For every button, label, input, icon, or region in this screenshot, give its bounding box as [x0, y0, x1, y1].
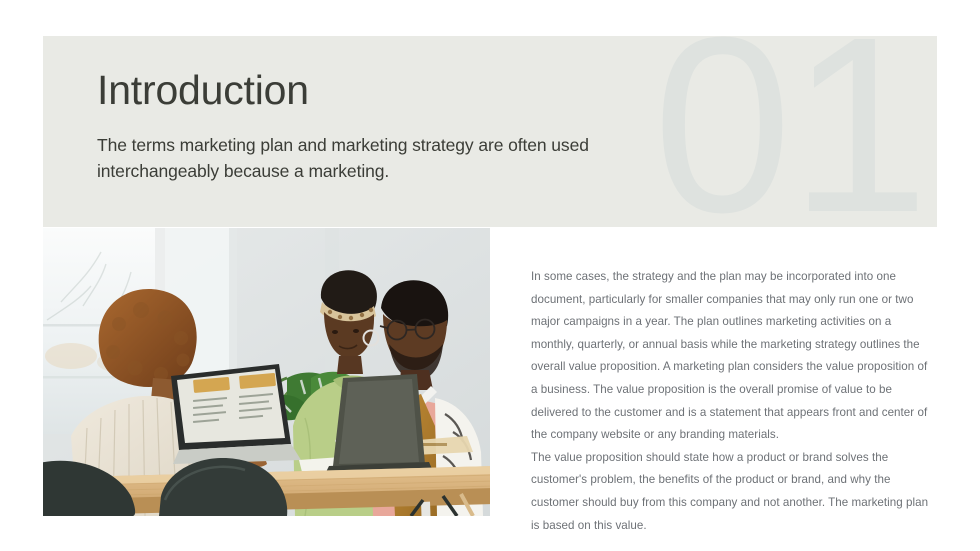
- body-paragraph-1: In some cases, the strategy and the plan…: [531, 266, 931, 447]
- body-paragraph-2: The value proposition should state how a…: [531, 447, 931, 537]
- body-copy: In some cases, the strategy and the plan…: [531, 266, 931, 537]
- slide-root: 01 Introduction The terms marketing plan…: [0, 0, 980, 551]
- header-panel: 01 Introduction The terms marketing plan…: [43, 36, 937, 227]
- meeting-photo: [43, 228, 490, 516]
- header-text-block: Introduction The terms marketing plan an…: [97, 68, 617, 185]
- content-row: In some cases, the strategy and the plan…: [0, 228, 980, 528]
- section-number-watermark: 01: [653, 36, 927, 227]
- page-subtitle: The terms marketing plan and marketing s…: [97, 133, 617, 185]
- meeting-photo-illustration: [43, 228, 490, 516]
- page-title: Introduction: [97, 68, 617, 113]
